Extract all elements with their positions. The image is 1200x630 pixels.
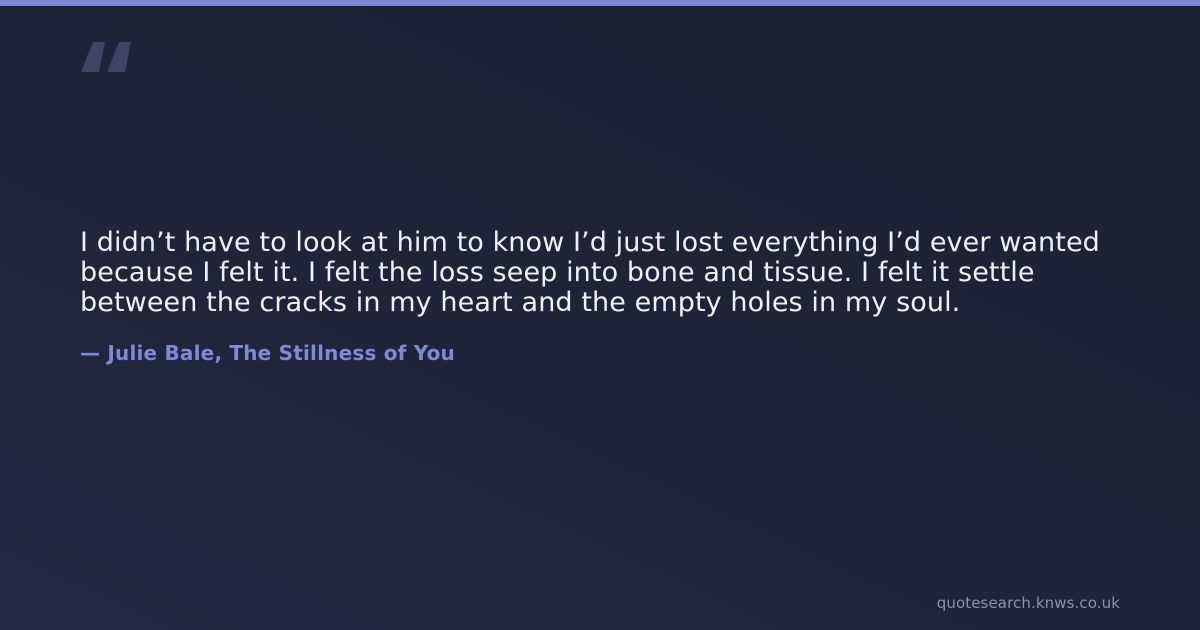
top-accent-bar <box>0 0 1200 6</box>
quote-content: I didn’t have to look at him to know I’d… <box>80 228 1120 366</box>
quote-text: I didn’t have to look at him to know I’d… <box>80 228 1120 318</box>
left-double-quotation-mark-icon <box>80 36 140 86</box>
quote-attribution: — Julie Bale, The Stillness of You <box>80 318 1120 366</box>
site-url: quotesearch.knws.co.uk <box>937 594 1120 612</box>
quote-card: I didn’t have to look at him to know I’d… <box>0 0 1200 630</box>
